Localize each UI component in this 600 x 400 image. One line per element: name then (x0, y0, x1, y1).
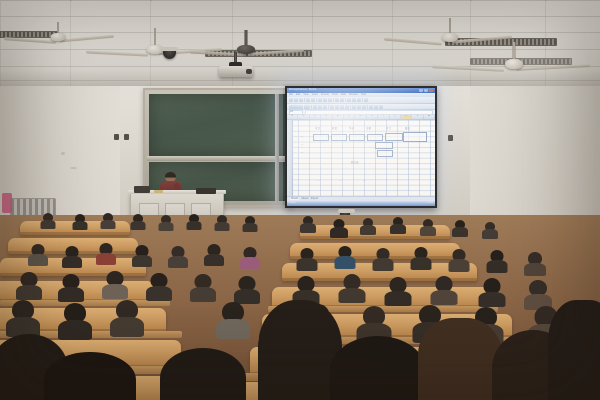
menu-file[interactable]: File (289, 94, 293, 97)
merge-cells-icon[interactable] (345, 105, 349, 109)
audience-member (410, 247, 431, 268)
col-c[interactable]: C (310, 115, 321, 119)
new-icon[interactable] (289, 98, 293, 102)
redo-icon[interactable] (340, 98, 344, 102)
audience-member (482, 222, 498, 237)
minimize-icon[interactable] (419, 89, 423, 92)
col-e[interactable]: E (333, 115, 344, 119)
audience-member (146, 273, 172, 299)
audience-member (216, 302, 250, 336)
col-g[interactable]: G (355, 115, 366, 119)
font-size-box[interactable] (304, 105, 310, 109)
audience-member (28, 244, 48, 264)
audience-member (242, 216, 257, 230)
menu-edit[interactable]: Edit (296, 94, 300, 97)
pink-bag (2, 193, 12, 213)
classroom-photo: Microsoft Excel - Book1 File Edit View I… (0, 0, 600, 400)
col-l[interactable]: L (412, 115, 423, 119)
save-icon[interactable] (299, 98, 303, 102)
audience-member (360, 218, 376, 233)
cell-total-label[interactable]: 合计 (386, 128, 391, 130)
spreadsheet-grid[interactable]: 项目 数量 单价 金额 合计 备注 统计表 — — (287, 120, 435, 207)
audience-member (338, 274, 365, 301)
chalkboard-rail (147, 156, 289, 161)
projection-screen: Microsoft Excel - Book1 File Edit View I… (285, 86, 437, 208)
audience-member (486, 250, 507, 271)
window-controls[interactable] (419, 89, 433, 92)
underline-icon[interactable] (323, 105, 327, 109)
chalkboard-slider[interactable] (275, 94, 279, 201)
podium-equipment (196, 188, 216, 194)
ceiling-fan-5 (452, 42, 576, 72)
audience-member (234, 276, 260, 302)
audience-member (158, 215, 173, 229)
podium-laptop (134, 186, 150, 193)
sheet-tab-3[interactable]: Sheet3 (311, 198, 318, 200)
cell-range-box-3[interactable] (349, 134, 365, 141)
col-a[interactable]: A (287, 115, 298, 119)
status-num: NUM (428, 202, 433, 204)
foreground-person (548, 300, 600, 400)
cut-icon[interactable] (318, 98, 322, 102)
undo-icon[interactable] (335, 98, 339, 102)
preview-icon[interactable] (311, 98, 315, 102)
cell-qty-label[interactable]: 数量 (332, 128, 337, 130)
sheet-tab-2[interactable]: Sheet2 (301, 198, 308, 200)
cell-data-c[interactable]: — (301, 152, 304, 154)
menu-view[interactable]: View (303, 94, 308, 97)
col-d[interactable]: D (321, 115, 332, 119)
chalkboard-upper-panel (149, 94, 287, 156)
audience-member (100, 213, 115, 227)
spreadsheet-app: Microsoft Excel - Book1 File Edit View I… (287, 88, 435, 206)
audience-member (72, 214, 87, 228)
audience-member (16, 272, 42, 298)
audience-member (96, 243, 116, 263)
status-bar: Ready NUM (287, 201, 435, 206)
font-color-icon[interactable] (379, 105, 383, 109)
col-m[interactable]: M (424, 115, 435, 119)
audience-member (58, 274, 84, 300)
menu-data[interactable]: Data (341, 94, 346, 97)
comma-icon[interactable] (362, 105, 366, 109)
ceiling-fan-3 (196, 30, 296, 56)
audience-member (6, 300, 40, 334)
audience-member (292, 276, 319, 303)
app-window-title: Microsoft Excel - Book1 (289, 89, 316, 92)
audience-member (372, 248, 393, 269)
autosum-icon[interactable] (347, 98, 351, 102)
cell-table-title[interactable]: 统计表 (351, 162, 359, 164)
audience-member (390, 217, 406, 232)
name-box[interactable]: A1 (289, 110, 303, 115)
print-icon[interactable] (306, 98, 310, 102)
audience-member (62, 246, 82, 266)
cell-data-a[interactable]: — (301, 136, 304, 138)
align-left-icon[interactable] (330, 105, 334, 109)
zoom-icon[interactable] (364, 98, 368, 102)
audience-member (524, 280, 552, 308)
audience-member (240, 247, 260, 267)
cell-note-label[interactable]: 备注 (405, 128, 410, 130)
italic-icon[interactable] (318, 105, 322, 109)
col-k-selected[interactable]: K (401, 115, 412, 119)
wall-socket[interactable] (114, 134, 119, 140)
currency-icon[interactable] (352, 105, 356, 109)
audience-member (186, 214, 201, 228)
col-f[interactable]: F (344, 115, 355, 119)
align-center-icon[interactable] (335, 105, 339, 109)
audience-member (478, 278, 505, 305)
foreground-person (160, 348, 246, 400)
cell-data-d[interactable]: — (317, 180, 320, 182)
font-name-box[interactable] (289, 105, 303, 109)
wall-socket-2[interactable] (124, 134, 129, 140)
audience-member (384, 277, 411, 304)
audience-member (190, 274, 216, 300)
maximize-icon[interactable] (424, 89, 428, 92)
menu-format[interactable]: Format (321, 94, 329, 97)
cell-amount-label[interactable]: 金额 (366, 128, 371, 130)
ceiling-fan-1 (10, 22, 106, 48)
sheet-tab-1[interactable]: Sheet1 (290, 198, 299, 200)
audience-member (132, 245, 152, 265)
cell-price-label[interactable]: 单价 (349, 128, 354, 130)
audience-member (40, 213, 55, 227)
menu-window[interactable]: Window (349, 94, 358, 97)
wall-socket-3[interactable] (448, 135, 453, 141)
audience-member (130, 214, 145, 228)
audience-member (58, 303, 92, 337)
audience-member (330, 219, 348, 237)
cell-range-box-1[interactable] (313, 134, 329, 141)
audience-member (430, 276, 457, 303)
foreground-person (330, 336, 426, 400)
status-text: Ready (289, 202, 296, 204)
foreground-person (44, 352, 136, 400)
app-toolbar-row-1[interactable] (287, 97, 435, 104)
formula-input[interactable] (305, 110, 433, 115)
audience-member (448, 249, 469, 270)
audience-member (204, 244, 224, 264)
align-right-icon[interactable] (340, 105, 344, 109)
cell-data-b[interactable]: — (301, 144, 304, 146)
sort-asc-icon[interactable] (352, 98, 356, 102)
cell-range-box-8[interactable] (377, 150, 393, 157)
open-icon[interactable] (294, 98, 298, 102)
cell-range-box-2[interactable] (331, 134, 347, 141)
cell-range-box-5[interactable] (385, 133, 403, 141)
audience-member (110, 300, 144, 334)
cell-range-box-6[interactable] (403, 132, 427, 142)
percent-icon[interactable] (357, 105, 361, 109)
borders-icon[interactable] (369, 105, 373, 109)
audience-member (524, 252, 546, 274)
foreground-person (418, 318, 502, 400)
chart-icon[interactable] (357, 98, 361, 102)
close-icon[interactable] (429, 89, 433, 92)
menu-help[interactable]: Help (361, 94, 366, 97)
col-h[interactable]: H (367, 115, 378, 119)
audience-member (420, 219, 436, 234)
audience-member (452, 220, 468, 235)
copy-icon[interactable] (323, 98, 327, 102)
audience-member (334, 246, 355, 267)
cell-range-box-4[interactable] (367, 134, 383, 141)
menu-tools[interactable]: Tools (332, 94, 338, 97)
fill-color-icon[interactable] (374, 105, 378, 109)
cell-data-e[interactable]: — (339, 180, 342, 182)
row-headers[interactable] (287, 120, 293, 207)
audience-member (296, 248, 317, 269)
cell-range-box-7[interactable] (375, 142, 393, 149)
col-j[interactable]: J (390, 115, 401, 119)
audience-member (214, 215, 229, 229)
audience-member (102, 271, 128, 297)
audience-member (300, 216, 316, 231)
podium-paper (154, 190, 163, 193)
cell-item-label[interactable]: 项目 (315, 128, 320, 130)
col-b[interactable]: B (298, 115, 309, 119)
menu-insert[interactable]: Insert (312, 94, 318, 97)
projector-lens (246, 69, 252, 74)
paste-icon[interactable] (328, 98, 332, 102)
bold-icon[interactable] (313, 105, 317, 109)
col-i[interactable]: I (378, 115, 389, 119)
cell-data-f[interactable]: — (363, 180, 366, 182)
audience-member (168, 246, 188, 266)
